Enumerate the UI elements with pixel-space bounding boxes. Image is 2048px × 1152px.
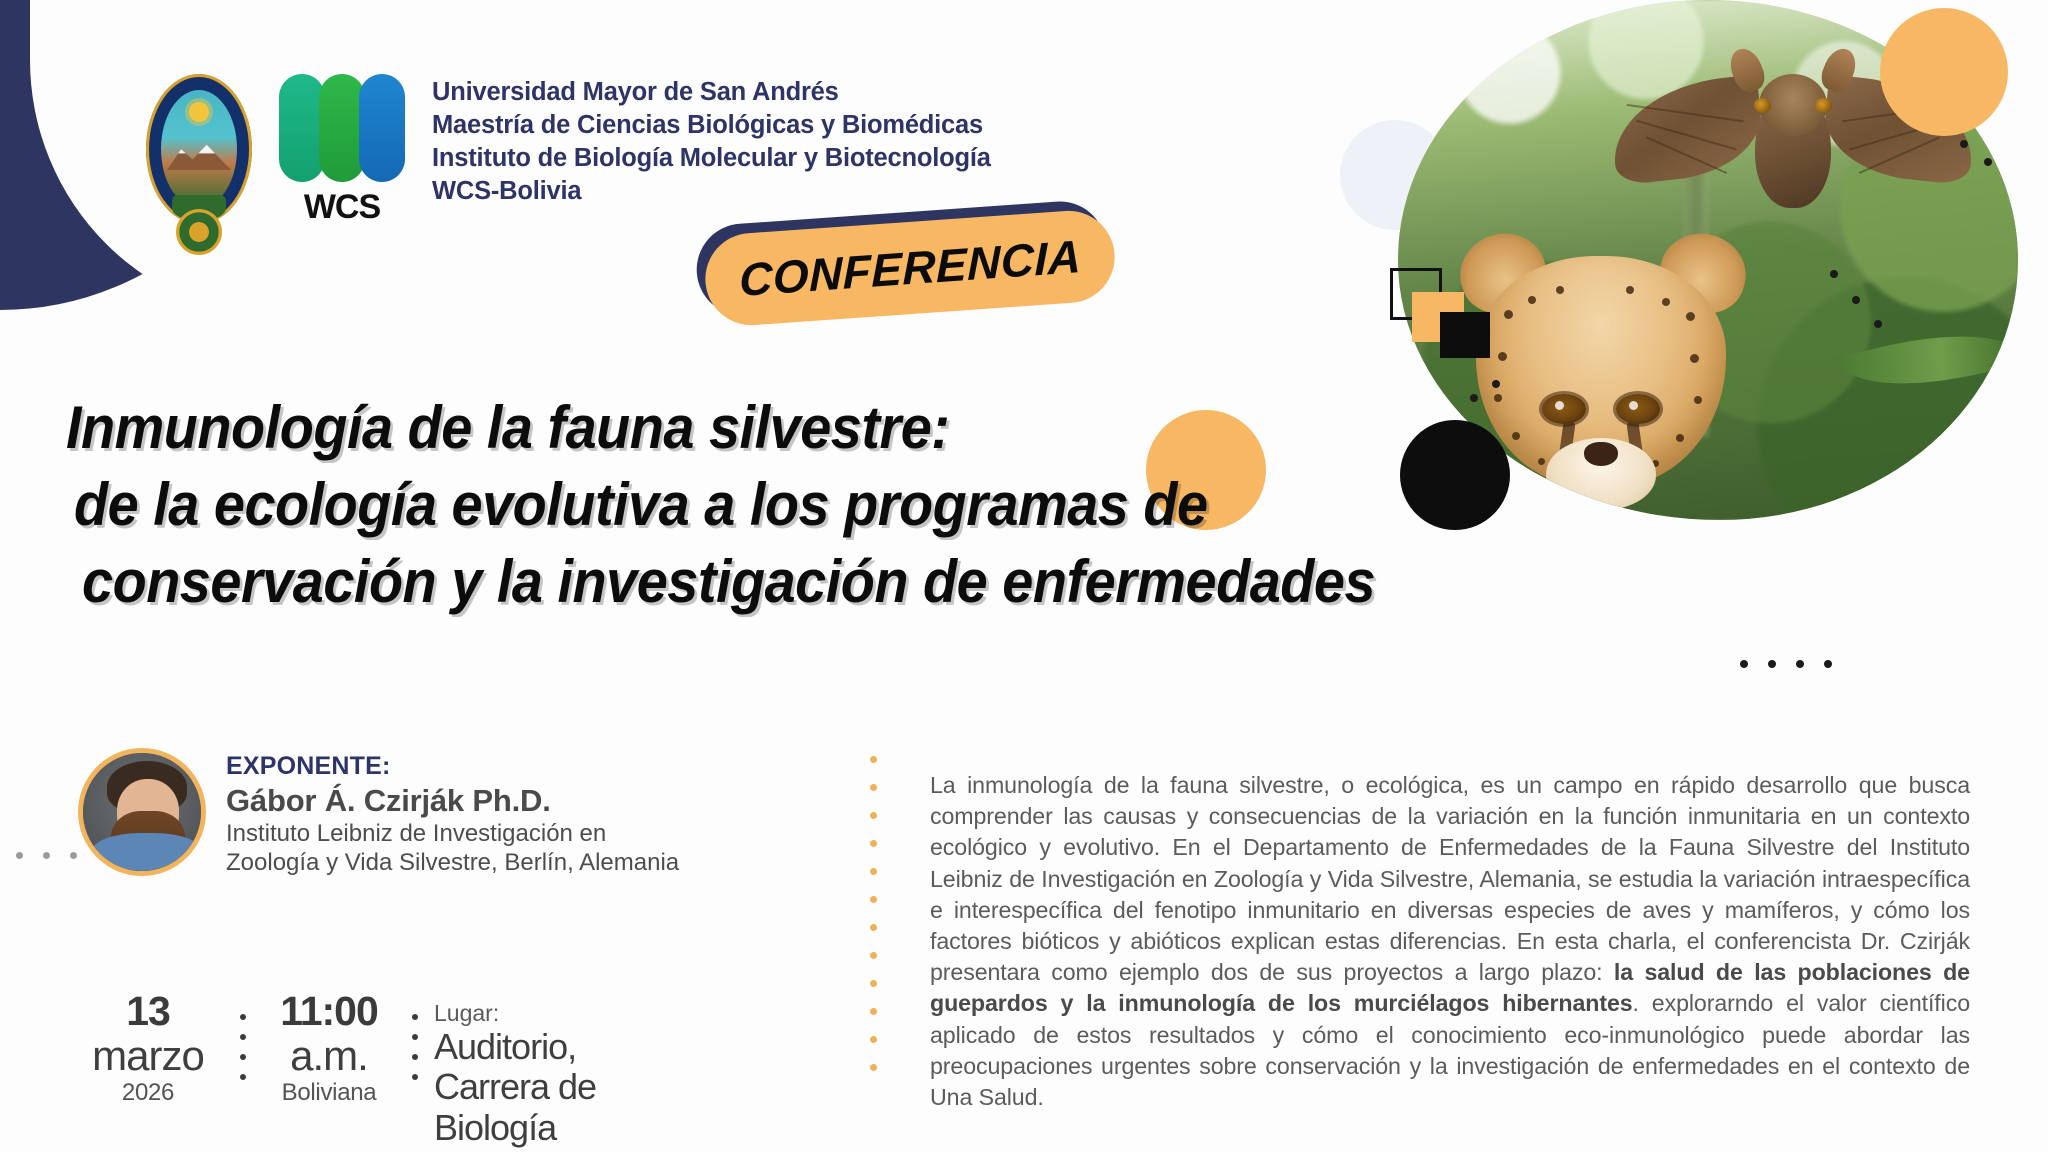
crest-emblem [161,90,237,208]
dot-cluster-bottom [1740,660,1850,680]
cheetah-eye-left [1542,394,1586,424]
event-place: Lugar: Auditorio, Carrera de Biología [426,990,726,1148]
place-line-2: Carrera de Biología [434,1067,726,1148]
organization-names: Universidad Mayor de San Andrés Maestría… [432,70,991,208]
dot-cluster-mid [1470,380,1530,410]
place-line-1: Auditorio, [434,1027,726,1067]
university-crest-icon [140,70,258,255]
conferencia-badge: CONFERENCIA [702,208,1117,328]
event-details: 13 marzo 2026 11:00 a.m. Boliviana Lugar… [64,990,726,1148]
wcs-wordmark: WCS [278,188,406,227]
place-label: Lugar: [434,1000,726,1027]
avatar [78,748,206,876]
speaker-name: Gábor Á. Czirják Ph.D. [226,783,679,819]
bat-wing-left [1607,74,1766,185]
vertical-dotted-divider [870,756,877,1071]
event-time: 11:00 a.m. Boliviana [254,990,404,1107]
speaker-details: EXPONENTE: Gábor Á. Czirják Ph.D. Instit… [226,748,679,878]
org-line-1: Universidad Mayor de San Andrés [432,76,991,109]
abstract-part-1: La inmunología de la fauna silvestre, o … [930,772,1970,985]
dot-cluster-right [1830,270,1900,330]
title-line-1: Inmunología de la fauna silvestre: [66,390,1061,467]
speaker-affiliation-line-2: Zoología y Vida Silvestre, Berlín, Alema… [226,848,679,877]
speaker-role-label: EXPONENTE: [226,752,679,781]
divider-dots-1 [232,990,254,1080]
event-time-value: 11:00 [254,990,404,1033]
conference-poster: WCS Universidad Mayor de San Andrés Maes… [0,0,2048,1152]
wcs-mark-icon [279,74,405,186]
bat-eye-left [1754,98,1771,113]
title-line-3: conservación y la investigación de enfer… [82,544,1062,621]
event-timezone: Boliviana [254,1079,404,1107]
orange-circle-large [1880,8,2008,136]
event-meridiem: a.m. [254,1033,404,1079]
event-month: marzo [64,1033,232,1079]
square-black-decor [1440,312,1490,358]
page-title: Inmunología de la fauna silvestre: de la… [66,390,1136,620]
abstract-text: La inmunología de la fauna silvestre, o … [930,770,1970,1113]
wcs-logo: WCS [278,74,406,227]
cheetah-eye-right [1616,394,1660,424]
divider-dots-2 [404,990,426,1080]
badge-label: CONFERENCIA [739,229,1081,307]
event-day: 13 [64,990,232,1033]
org-line-4: WCS-Bolivia [432,175,991,208]
black-circle-decor [1400,420,1510,530]
cheetah-nose [1584,442,1618,466]
crest-medal-icon [176,209,222,255]
title-line-2: de la ecología evolutiva a los programas… [74,467,1062,544]
org-line-2: Maestría de Ciencias Biológicas y Bioméd… [432,109,991,142]
avatar-shirt [91,833,203,876]
speaker-affiliation-line-1: Instituto Leibniz de Investigación en [226,819,679,848]
crest-sun-icon [189,102,209,122]
org-line-3: Instituto de Biología Molecular y Biotec… [432,142,991,175]
dot-cluster-top-right [1960,140,2020,180]
bat-eye-right [1815,98,1832,113]
speaker-block: EXPONENTE: Gábor Á. Czirják Ph.D. Instit… [78,748,679,878]
crest-mountain-icon [167,142,231,170]
dot-cluster-left [16,852,77,859]
event-date: 13 marzo 2026 [64,990,232,1107]
event-year: 2026 [64,1079,232,1107]
cheetah-head [1476,256,1726,486]
